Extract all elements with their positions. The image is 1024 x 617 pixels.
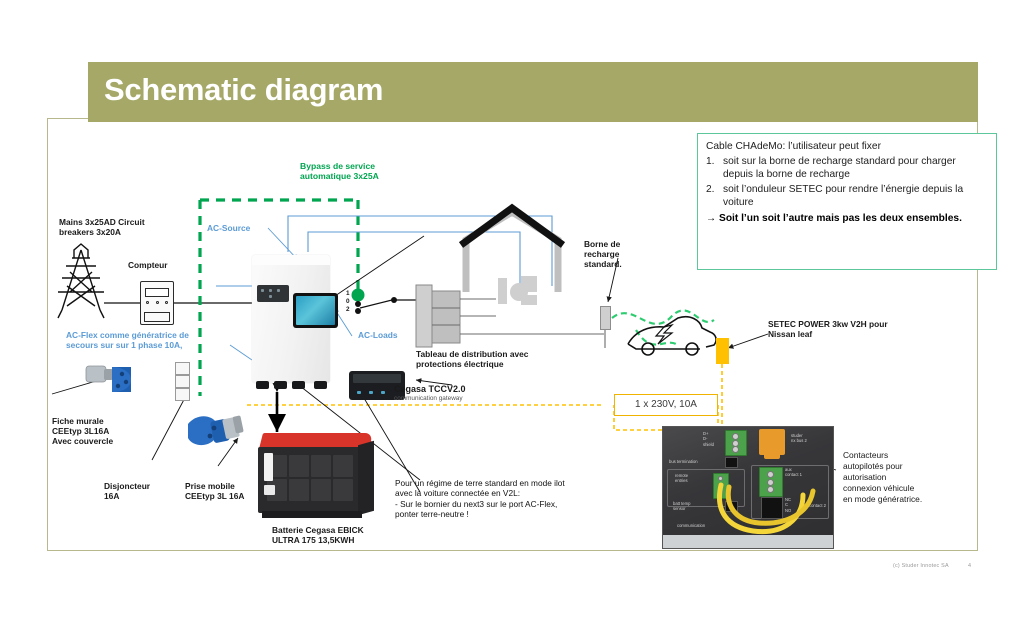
label-contacteurs: Contacteurs autopilotés pour autorisatio… [843,450,922,505]
callout-conclusion: → Soit l’un soit l’autre mais pas les de… [706,212,988,226]
slide-root: Schematic diagram [0,0,1024,617]
label-gateway-sub: communication gateway [394,395,463,403]
chademo-callout: Cable CHAdeMo: l’utilisateur peut fixer … [697,133,997,270]
callout-item-2-text: soit l’onduleur SETEC pour rendre l’éner… [723,184,963,209]
label-borne: Borne de recharge standard. [584,240,622,270]
label-ac-source: AC-Source [207,223,250,233]
footer-copyright: (c) Studer Innotec SA [893,563,949,569]
label-compteur: Compteur [128,261,168,271]
callout-item-2: 2. soit l’onduleur SETEC pour rendre l’é… [706,183,988,210]
callout-item-1-text: soit sur la borne de recharge standard p… [723,156,956,181]
fuse-holder-icon [175,362,190,408]
battery-image [258,433,374,518]
label-mains: Mains 3x25AD Circuit breakers 3x20A [59,218,145,238]
label-prise-mobile: Prise mobile CEEtyp 3L 16A [185,482,244,502]
label-tableau: Tableau de distribution avec protections… [416,350,528,370]
callout-item-1: 1. soit sur la borne de recharge standar… [706,155,988,182]
inverter-terminals [252,381,338,391]
electric-meter-icon [140,281,174,325]
label-battery: Batterie Cegasa EBICK ULTRA 175 13,5KWH [272,526,364,546]
inverter-next3-image [252,255,330,383]
label-ac-loads: AC-Loads [358,330,398,340]
contactor-photo: D+ D- shield studer nx bus 2 bus termina… [662,426,834,549]
setec-power-unit [716,338,729,364]
dc-note-box: 1 x 230V, 10A [614,394,718,416]
callout-item-2-num: 2. [706,183,715,197]
page-title: Schematic diagram [104,72,383,108]
label-ac-flex: AC-Flex comme génératrice de secours sur… [66,330,189,350]
charge-point-image [600,306,611,330]
label-disjoncteur: Disjoncteur 16A [104,482,150,502]
label-switch-1: 1 [346,290,350,298]
callout-list: 1. soit sur la borne de recharge standar… [706,155,988,210]
label-switch-2: 2 [346,306,350,314]
label-bypass: Bypass de service automatique 3x25A [300,161,379,182]
label-switch-0: 0 [346,298,350,306]
label-setec: SETEC POWER 3kw V2H pour Nissan leaf [768,320,888,340]
callout-intro: Cable CHAdeMo: l’utilisateur peut fixer [706,140,988,154]
yellow-jumper-wires [663,427,834,549]
label-fiche-murale: Fiche murale CEEtyp 3L16A Avec couvercle [52,417,113,447]
callout-item-1-num: 1. [706,155,715,169]
slide-page-number: 4 [968,563,971,569]
dc-note-text: 1 x 230V, 10A [615,395,717,415]
label-gateway-title: Cegasa TCCV2.0 [394,384,466,395]
label-regime-terre: Pour un régime de terre standard en mode… [395,478,565,519]
slide-footer: (c) Studer Innotec SA 4 [893,563,949,569]
